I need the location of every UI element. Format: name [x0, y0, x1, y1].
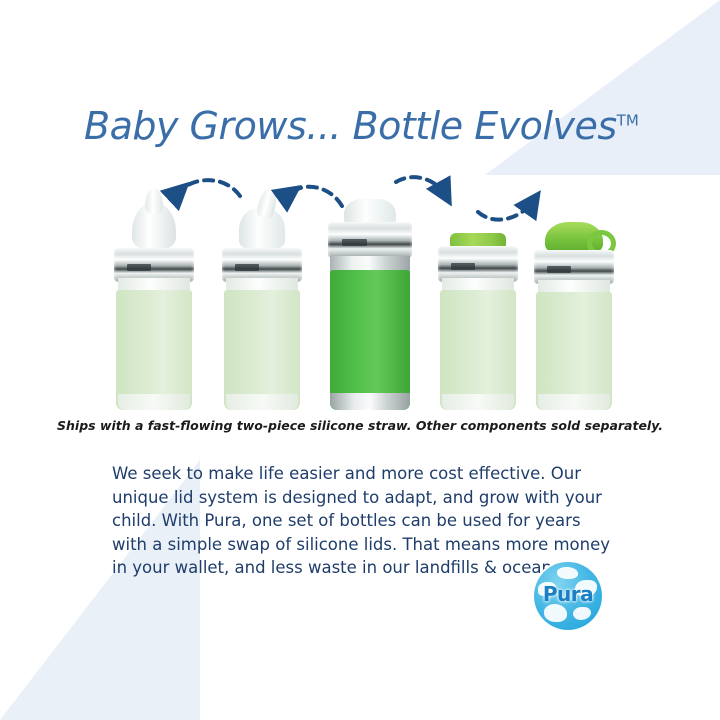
bottle-sleeve: [330, 270, 410, 410]
bottle-sleeve: [440, 290, 516, 410]
bottle-sleeve: [536, 292, 612, 410]
corner-wedge-top-right: [485, 0, 720, 175]
bottle-straw: [330, 170, 410, 410]
bottle-lineup: [0, 170, 720, 410]
steel-collar: [222, 248, 301, 282]
bottle-base: [538, 394, 611, 410]
page-title: Baby Grows... Bottle EvolvesTM: [84, 104, 639, 148]
bottle-nipple: [116, 208, 192, 410]
bottle-base: [118, 394, 191, 410]
bottle-sleeve: [224, 290, 300, 410]
infographic-canvas: Baby Grows... Bottle EvolvesTM: [0, 0, 720, 720]
sport-cap-icon: [545, 222, 603, 252]
bottle-sport-cap: [536, 208, 612, 410]
continent-shape: [557, 567, 577, 579]
steel-collar: [438, 246, 517, 282]
product-caption: Ships with a fast-flowing two-piece sili…: [0, 418, 720, 433]
bottle-sippy: [224, 208, 300, 410]
bottle-sleeve: [116, 290, 192, 410]
headline-text: Baby Grows... Bottle Evolves: [84, 104, 617, 148]
continent-shape: [544, 604, 567, 622]
sippy-spout-icon: [239, 208, 285, 250]
bottle-base: [330, 393, 410, 410]
pura-logo: Pura: [534, 562, 602, 630]
brand-wordmark: Pura: [534, 582, 602, 606]
steel-collar: [114, 248, 193, 282]
trademark-symbol: TM: [617, 111, 639, 129]
steel-collar: [328, 222, 411, 258]
bottle-base: [442, 394, 515, 410]
bottle-seal: [440, 208, 516, 410]
steel-collar: [534, 250, 613, 284]
bottle-base: [226, 394, 299, 410]
continent-shape: [573, 607, 591, 621]
silicone-nipple-icon: [132, 202, 176, 250]
